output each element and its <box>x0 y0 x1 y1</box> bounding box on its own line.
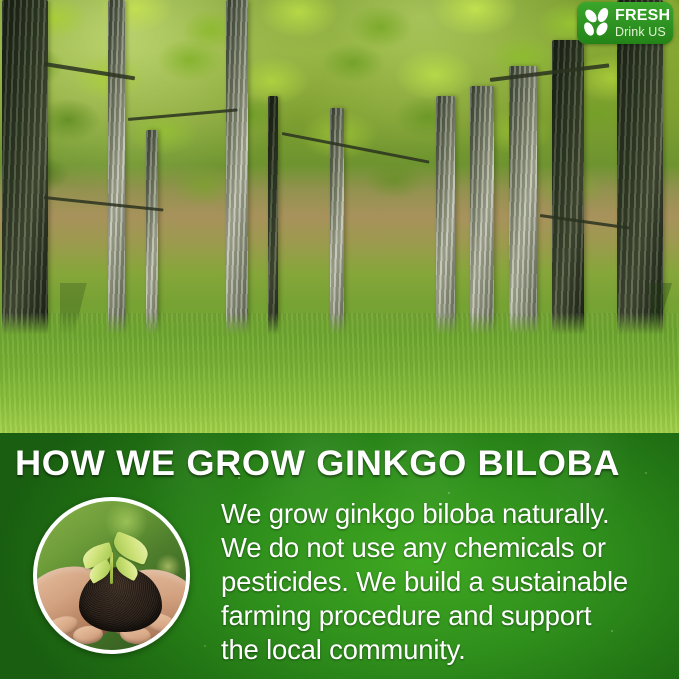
seedling-leaf <box>109 531 152 566</box>
description-line: pesticides. We build a sustainable <box>221 565 667 599</box>
hero-forest-photo <box>0 0 679 433</box>
description-line: We grow ginkgo biloba naturally. <box>221 497 667 531</box>
leaf-cluster-icon <box>582 7 612 39</box>
product-infographic: FRESH Drink US HOW WE GROW GINKGO BILOBA <box>0 0 679 679</box>
brand-logo-badge[interactable]: FRESH Drink US <box>577 2 673 44</box>
description-line: farming procedure and support <box>221 599 667 633</box>
description-text: We grow ginkgo biloba naturally. We do n… <box>221 497 667 667</box>
brand-text-block: FRESH Drink US <box>615 8 670 39</box>
description-line: the local community. <box>221 633 667 667</box>
hands-seedling-image <box>33 497 190 654</box>
brand-name: FRESH <box>615 8 670 24</box>
description-line: We do not use any chemicals or <box>221 531 667 565</box>
page-title: HOW WE GROW GINKGO BILOBA <box>15 447 679 481</box>
foreground-grass <box>0 313 679 433</box>
brand-subtitle: Drink US <box>615 26 670 39</box>
